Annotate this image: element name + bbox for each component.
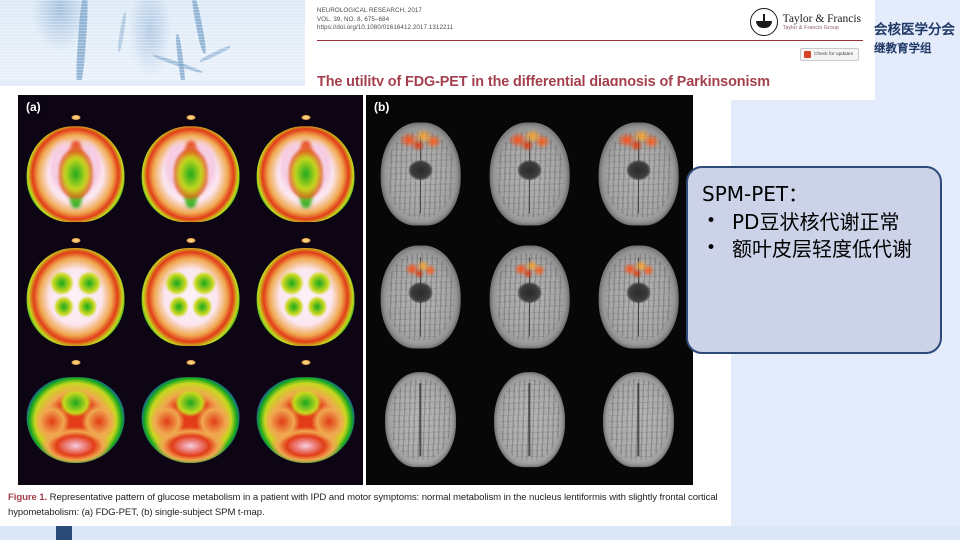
bottom-strip bbox=[0, 526, 960, 540]
midline-fissure bbox=[420, 383, 421, 456]
ventricle-shape bbox=[517, 283, 541, 304]
spm-activation-cluster bbox=[609, 129, 668, 154]
spm-activation-cluster bbox=[508, 260, 552, 280]
pet-slice bbox=[18, 113, 133, 236]
organization-line-1: 会核医学分会 bbox=[874, 18, 960, 38]
scanner-marker-icon bbox=[71, 360, 80, 365]
brain-slice-image bbox=[141, 248, 240, 346]
header-divider bbox=[317, 40, 863, 41]
publisher-name: Taylor & Francis bbox=[783, 13, 861, 25]
spm-activation-cluster bbox=[391, 129, 450, 154]
figure-number: Figure 1. bbox=[8, 492, 47, 503]
spm-activation-cluster bbox=[399, 260, 443, 280]
brain-slice-image bbox=[141, 377, 240, 463]
spm-slice bbox=[366, 236, 475, 359]
brain-slice-image bbox=[494, 372, 566, 468]
brain-slice-image bbox=[26, 248, 125, 346]
spm-slice-grid bbox=[366, 113, 693, 481]
scanner-marker-icon bbox=[71, 115, 80, 120]
midline-fissure bbox=[529, 383, 530, 456]
panel-a-label: (a) bbox=[26, 100, 41, 114]
journal-volume-issue-pages: VOL. 39, NO. 8, 675–684 bbox=[317, 16, 453, 25]
organization-text: 会核医学分会 继教育学组 bbox=[874, 18, 960, 56]
angiogram-watermark-image bbox=[0, 0, 305, 80]
scanner-marker-icon bbox=[301, 360, 310, 365]
scanner-marker-icon bbox=[301, 238, 310, 243]
spm-slice bbox=[475, 113, 584, 236]
midline-fissure bbox=[638, 383, 639, 456]
central-activity bbox=[173, 150, 208, 199]
spm-activation-cluster bbox=[617, 260, 661, 280]
pet-slice bbox=[133, 358, 248, 481]
brain-slice-image bbox=[603, 372, 675, 468]
spm-activation-cluster bbox=[500, 129, 559, 154]
pet-slice bbox=[18, 236, 133, 359]
figure-caption-text: Representative pattern of glucose metabo… bbox=[8, 492, 718, 518]
ventricle-shape bbox=[626, 160, 650, 181]
brain-slice-image bbox=[256, 377, 355, 463]
journal-metadata: NEUROLOGICAL RESEARCH, 2017 VOL. 39, NO.… bbox=[317, 7, 453, 33]
ventricle-shape bbox=[517, 160, 541, 181]
callout-bullet-item: 额叶皮层轻度低代谢 bbox=[702, 236, 930, 263]
callout-bullet-list: PD豆状核代谢正常 额叶皮层轻度低代谢 bbox=[702, 209, 930, 263]
spm-slice bbox=[475, 236, 584, 359]
scanner-marker-icon bbox=[186, 238, 195, 243]
ventricle-shape bbox=[408, 283, 432, 304]
callout-title: SPM-PET： bbox=[702, 182, 930, 207]
callout-bullet-item: PD豆状核代谢正常 bbox=[702, 209, 930, 236]
publisher-name-block: Taylor & Francis Taylor & Francis Group bbox=[783, 13, 861, 32]
taylor-francis-logo-icon bbox=[750, 8, 778, 36]
central-activity bbox=[58, 150, 93, 199]
central-activity bbox=[288, 150, 323, 199]
panel-b-label: (b) bbox=[374, 100, 389, 114]
scanner-marker-icon bbox=[186, 360, 195, 365]
pet-slice bbox=[248, 113, 363, 236]
spm-slice bbox=[584, 236, 693, 359]
brain-slice-image bbox=[385, 372, 457, 468]
ventricle-shape bbox=[626, 283, 650, 304]
scanner-marker-icon bbox=[71, 238, 80, 243]
scanner-marker-icon bbox=[301, 115, 310, 120]
check-for-updates-label: Check for updates bbox=[814, 52, 853, 57]
figure-caption: Figure 1. Representative pattern of gluc… bbox=[8, 490, 720, 520]
figure-panel: (a) (b) bbox=[0, 86, 731, 526]
scanner-marker-icon bbox=[186, 115, 195, 120]
ventricle-shape bbox=[408, 160, 432, 181]
pet-image-panel-a: (a) bbox=[18, 95, 363, 485]
organization-line-2: 继教育学组 bbox=[874, 40, 960, 56]
brain-slice-image bbox=[256, 248, 355, 346]
spm-slice bbox=[584, 113, 693, 236]
spm-slice bbox=[366, 358, 475, 481]
journal-name-year: NEUROLOGICAL RESEARCH, 2017 bbox=[317, 7, 453, 16]
crossmark-icon bbox=[804, 51, 811, 58]
brain-slice-image bbox=[26, 377, 125, 463]
spm-slice bbox=[366, 113, 475, 236]
spm-image-panel-b: (b) bbox=[366, 95, 693, 485]
bottom-left-marker bbox=[56, 526, 72, 540]
pet-slice bbox=[248, 236, 363, 359]
pet-slice bbox=[18, 358, 133, 481]
pet-slice bbox=[133, 236, 248, 359]
spm-pet-callout-box: SPM-PET： PD豆状核代谢正常 额叶皮层轻度低代谢 bbox=[686, 166, 942, 354]
pet-slice bbox=[133, 113, 248, 236]
scanline-overlay bbox=[0, 0, 305, 80]
publisher-group: Taylor & Francis Group bbox=[783, 26, 861, 31]
pet-slice bbox=[248, 358, 363, 481]
spm-slice bbox=[475, 358, 584, 481]
journal-header-panel: NEUROLOGICAL RESEARCH, 2017 VOL. 39, NO.… bbox=[305, 0, 875, 100]
pet-slice-grid bbox=[18, 113, 363, 481]
journal-doi-link[interactable]: https://doi.org/10.1080/01616412.2017.13… bbox=[317, 24, 453, 33]
spm-slice bbox=[584, 358, 693, 481]
check-for-updates-button[interactable]: Check for updates bbox=[800, 48, 859, 61]
figure-image-row: (a) (b) bbox=[18, 95, 693, 485]
slide-canvas: NEUROLOGICAL RESEARCH, 2017 VOL. 39, NO.… bbox=[0, 0, 960, 540]
publisher-logo: Taylor & Francis Taylor & Francis Group bbox=[750, 8, 861, 36]
